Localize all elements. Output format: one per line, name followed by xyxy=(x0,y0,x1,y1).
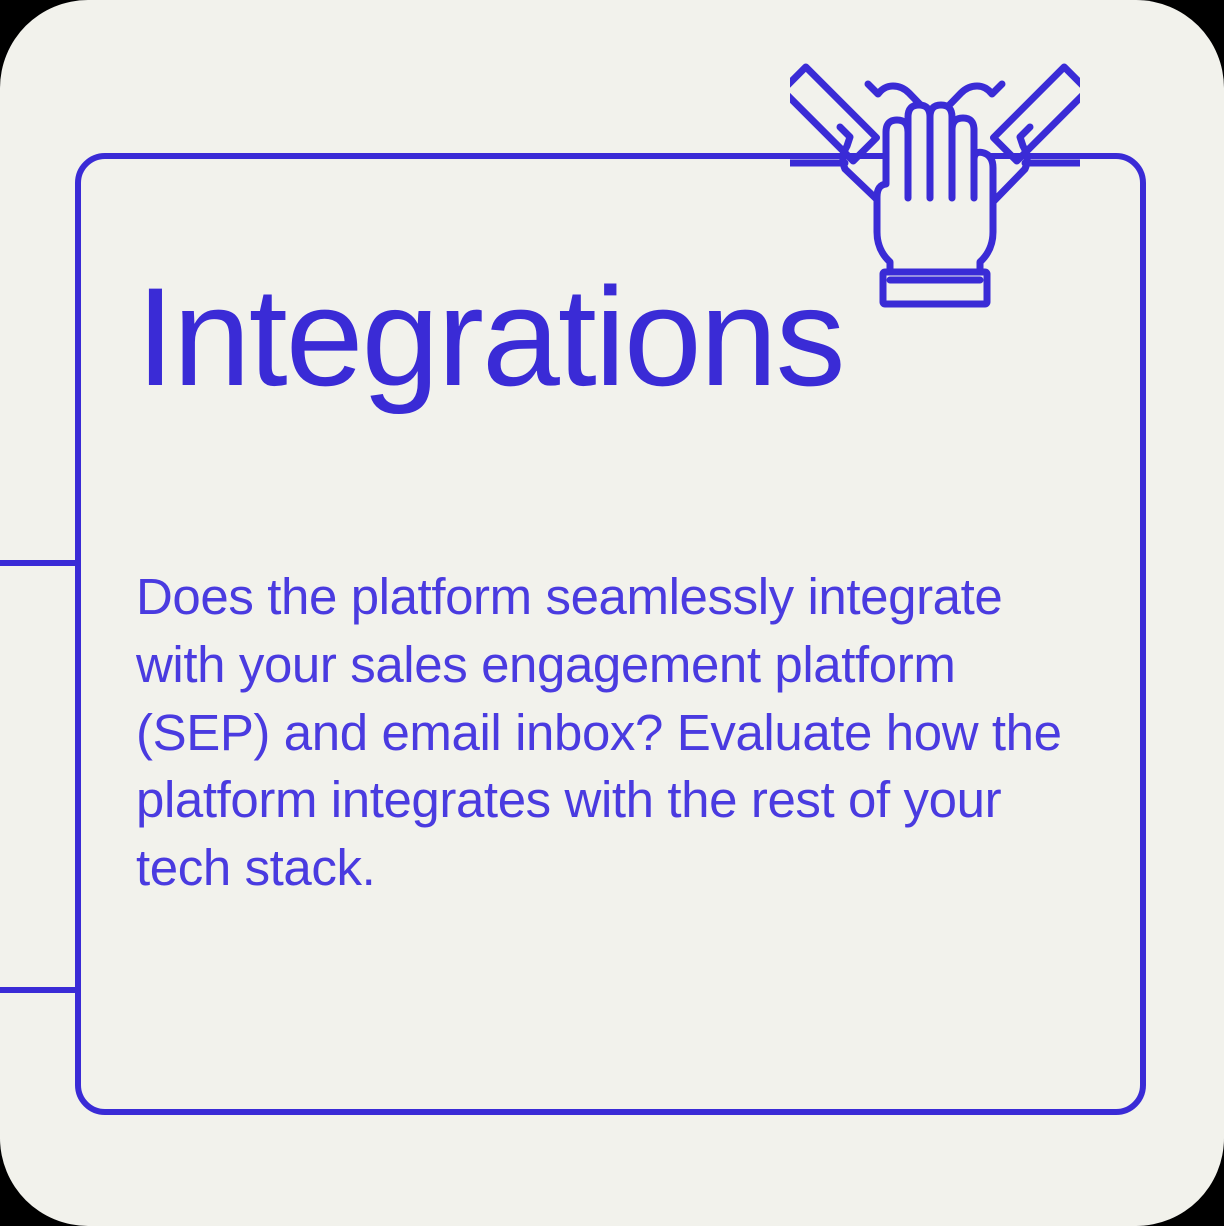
three-hands-teamwork-icon-svg xyxy=(790,22,1080,312)
outer-panel: Integrations Does the platform seamlessl… xyxy=(0,0,1224,1226)
connector-line-bottom xyxy=(0,987,80,993)
card-description: Does the platform seamlessly integrate w… xyxy=(136,563,1066,902)
three-hands-teamwork-icon xyxy=(790,22,1080,312)
screenshot-root: Integrations Does the platform seamlessl… xyxy=(0,0,1224,1226)
right-sleeve-cuff xyxy=(993,67,1080,161)
connector-line-top xyxy=(0,560,80,566)
left-sleeve-cuff xyxy=(790,67,877,161)
integrations-card-body: Integrations Does the platform seamlessl… xyxy=(136,270,1076,902)
